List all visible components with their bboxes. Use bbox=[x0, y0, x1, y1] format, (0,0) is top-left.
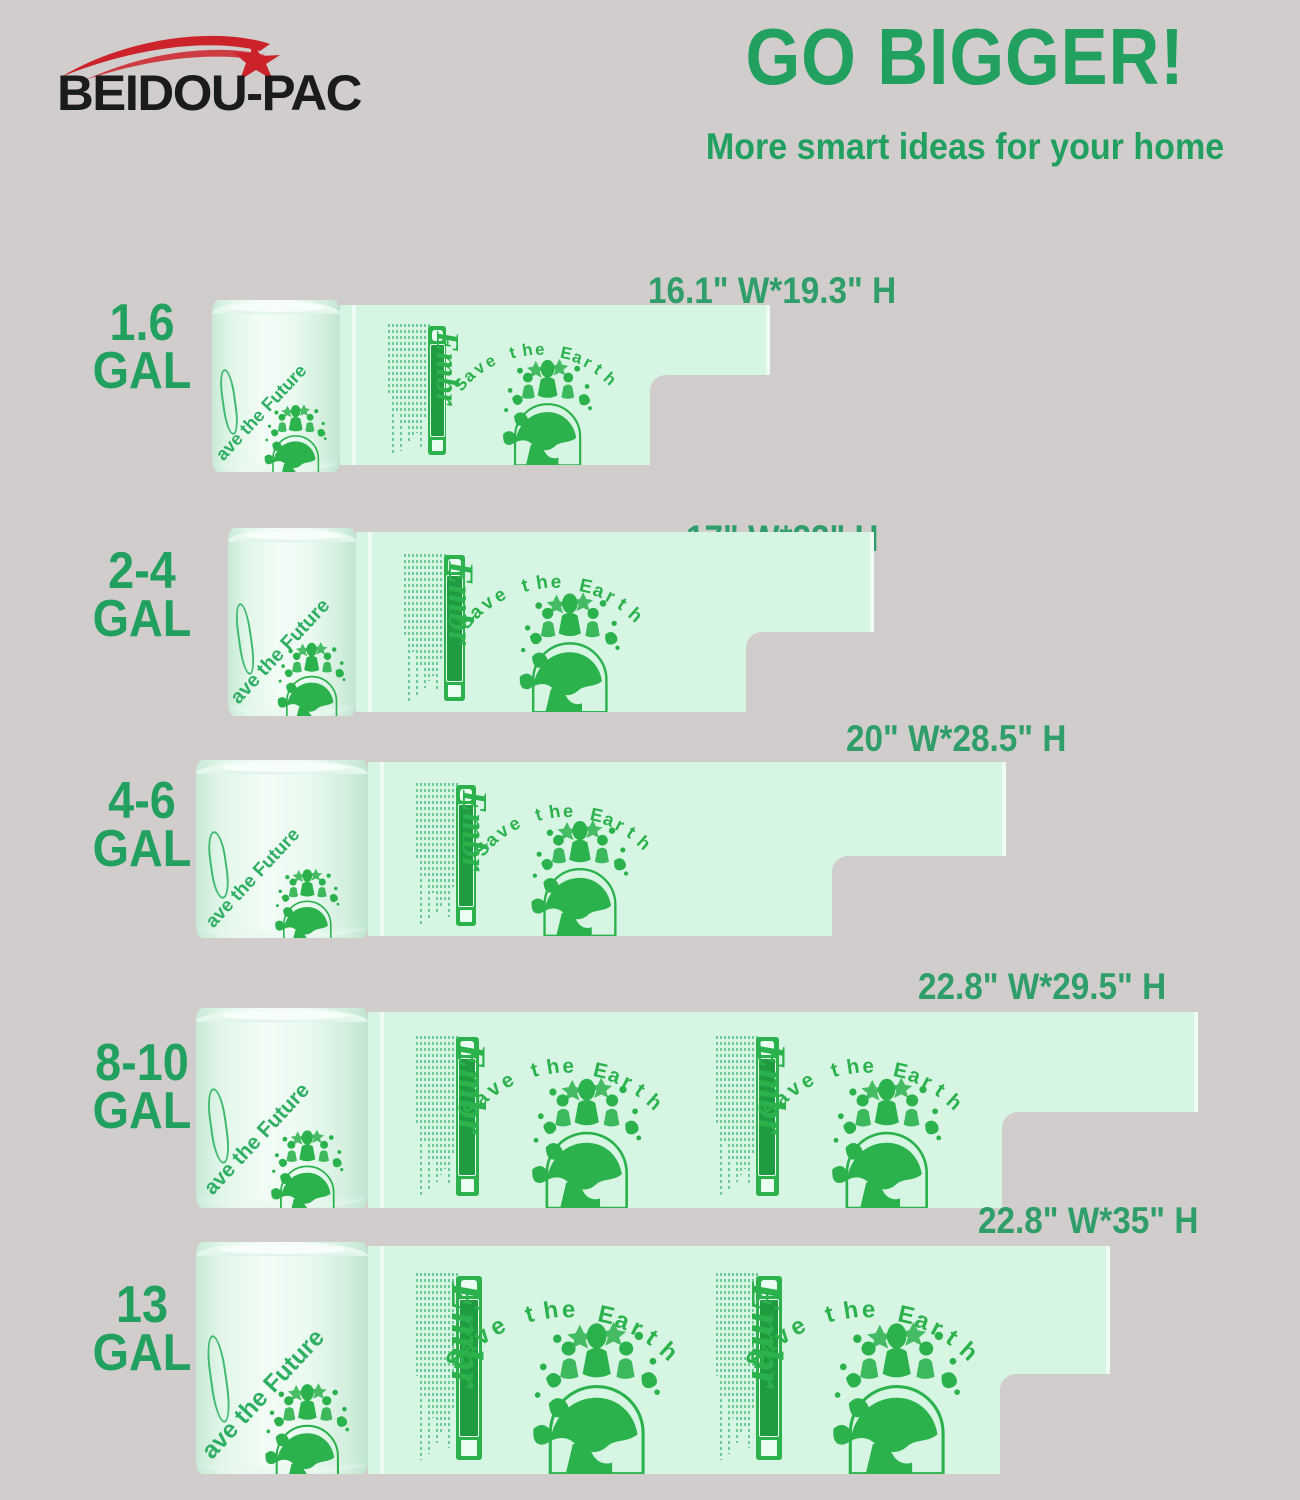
fineprint-line bbox=[720, 1273, 722, 1459]
fineprint-line bbox=[428, 783, 430, 921]
fineprint-line bbox=[728, 1036, 730, 1191]
size-gallons-value: 8-10 bbox=[70, 1040, 214, 1088]
roll-globe-illustration bbox=[254, 860, 361, 938]
bag-fineprint-block bbox=[388, 324, 430, 455]
dimension-label-4: 22.8" W*29.5" H bbox=[918, 966, 1166, 1008]
earth-people-illustration bbox=[526, 1305, 667, 1474]
fineprint-line bbox=[736, 1036, 738, 1182]
bag-left-seam-2 bbox=[368, 532, 372, 712]
earth-people-illustration bbox=[256, 396, 335, 472]
bag-step-notch-3 bbox=[832, 856, 1012, 940]
badge-home-label bbox=[761, 1179, 775, 1193]
bag-roll-2: ave the Future bbox=[228, 528, 356, 716]
fineprint-line bbox=[440, 1036, 442, 1175]
badge-home-label bbox=[432, 440, 443, 451]
fineprint-line bbox=[440, 783, 442, 906]
badge-home-label bbox=[461, 1440, 477, 1456]
bag-roll-1: ave the Future bbox=[212, 300, 340, 472]
roll-top-highlight bbox=[246, 531, 341, 540]
fineprint-line bbox=[416, 1273, 418, 1376]
brand-logo: BEIDOU-PAC bbox=[55, 30, 435, 125]
size-gallons-value: 4-6 bbox=[70, 778, 214, 826]
fineprint-line bbox=[420, 783, 422, 925]
fineprint-line bbox=[716, 1273, 718, 1376]
roll-top-highlight bbox=[220, 763, 347, 772]
earth-people-illustration bbox=[272, 633, 351, 716]
fineprint-line bbox=[732, 1273, 734, 1417]
fineprint-line bbox=[428, 554, 430, 682]
fineprint-line bbox=[416, 324, 418, 433]
size-label-5: 13GAL bbox=[70, 1282, 214, 1378]
size-label-1: 1.6GAL bbox=[70, 300, 214, 396]
dimension-label-5: 22.8" W*35" H bbox=[978, 1200, 1198, 1242]
bag-edge-highlight-4 bbox=[1194, 1012, 1198, 1112]
bag-edge-highlight-3 bbox=[1002, 762, 1006, 856]
bag-edge-highlight-5 bbox=[1106, 1246, 1110, 1374]
bag-step-notch-4 bbox=[1002, 1112, 1204, 1212]
fineprint-line bbox=[416, 554, 418, 697]
roll-globe-illustration bbox=[272, 633, 351, 716]
earth-people-illustration bbox=[826, 1305, 967, 1474]
bag-step-notch-5 bbox=[1000, 1374, 1116, 1478]
badge-home-label bbox=[461, 1179, 475, 1193]
fineprint-line bbox=[416, 783, 418, 861]
bag-step-notch-2 bbox=[746, 632, 880, 716]
fineprint-line bbox=[436, 1036, 438, 1182]
fineprint-line bbox=[392, 324, 394, 455]
fineprint-line bbox=[408, 554, 410, 701]
fineprint-line bbox=[424, 1036, 426, 1143]
bag-roll-5: ave the Future bbox=[196, 1242, 368, 1474]
fineprint-line bbox=[436, 783, 438, 913]
bag-fineprint-block bbox=[416, 783, 458, 926]
fineprint-line bbox=[448, 783, 450, 917]
embr-brand-script: Embr bbox=[429, 331, 466, 406]
bag-left-seam-3 bbox=[380, 762, 384, 936]
bag-roll-4: ave the Future bbox=[196, 1008, 368, 1208]
size-gallons-value: 2-4 bbox=[70, 548, 214, 596]
badge-home-label bbox=[448, 685, 460, 697]
bag-left-seam-5 bbox=[380, 1246, 384, 1474]
earth-people-illustration bbox=[254, 1120, 361, 1208]
fineprint-line bbox=[396, 324, 398, 411]
size-gallons-value: 1.6 bbox=[70, 300, 214, 348]
fineprint-line bbox=[416, 1036, 418, 1124]
fineprint-line bbox=[428, 1273, 430, 1454]
roll-top-highlight bbox=[220, 1245, 347, 1254]
fineprint-line bbox=[740, 1036, 742, 1175]
roll-top-highlight bbox=[220, 1011, 347, 1020]
page-headline: GO BIGGER! bbox=[679, 18, 1251, 96]
badge-home-label bbox=[460, 910, 472, 922]
fineprint-line bbox=[420, 554, 422, 668]
fineprint-line bbox=[420, 1036, 422, 1196]
fineprint-line bbox=[744, 1036, 746, 1169]
roll-top-highlight bbox=[230, 303, 325, 312]
globe-illustration-wrap bbox=[526, 1305, 667, 1479]
fineprint-line bbox=[428, 1036, 430, 1191]
size-label-2: 2-4GAL bbox=[70, 548, 214, 644]
fineprint-line bbox=[412, 324, 414, 437]
size-gallons-unit: GAL bbox=[70, 1088, 214, 1136]
fineprint-line bbox=[424, 554, 426, 688]
bag-step-notch-1 bbox=[650, 375, 776, 469]
fineprint-line bbox=[736, 1273, 738, 1443]
fineprint-line bbox=[432, 1036, 434, 1160]
bag-left-seam-4 bbox=[380, 1012, 384, 1208]
page-subheadline: More smart ideas for your home bbox=[666, 128, 1264, 165]
size-label-4: 8-10GAL bbox=[70, 1040, 214, 1136]
fineprint-line bbox=[404, 324, 406, 425]
fineprint-line bbox=[420, 324, 422, 447]
fineprint-line bbox=[444, 1036, 446, 1169]
fineprint-line bbox=[412, 554, 414, 652]
fineprint-line bbox=[432, 1273, 434, 1417]
globe-illustration-wrap bbox=[826, 1305, 967, 1479]
fineprint-line bbox=[728, 1273, 730, 1454]
fineprint-line bbox=[432, 783, 434, 893]
dimension-label-3: 20" W*28.5" H bbox=[846, 718, 1066, 760]
badge-home-label bbox=[761, 1440, 777, 1456]
fineprint-line bbox=[444, 783, 446, 901]
roll-pod-mark bbox=[204, 1334, 233, 1423]
fineprint-line bbox=[716, 1036, 718, 1124]
fineprint-line bbox=[388, 324, 390, 396]
size-gallons-unit: GAL bbox=[70, 1330, 214, 1378]
size-gallons-value: 13 bbox=[70, 1282, 214, 1330]
fineprint-line bbox=[400, 324, 402, 451]
fineprint-line bbox=[436, 554, 438, 692]
earth-people-illustration bbox=[254, 860, 361, 938]
bag-edge-highlight-1 bbox=[766, 305, 770, 375]
fineprint-line bbox=[732, 1036, 734, 1160]
bag-roll-3: ave the Future bbox=[196, 760, 368, 938]
fineprint-line bbox=[408, 324, 410, 443]
fineprint-line bbox=[424, 324, 426, 420]
fineprint-line bbox=[420, 1273, 422, 1459]
fineprint-line bbox=[724, 1273, 726, 1397]
fineprint-line bbox=[424, 1273, 426, 1397]
page-header: BEIDOU-PAC GO BIGGER! More smart ideas f… bbox=[0, 0, 1300, 200]
roll-globe-illustration bbox=[254, 1372, 361, 1474]
size-gallons-unit: GAL bbox=[70, 826, 214, 874]
fineprint-line bbox=[404, 554, 406, 635]
size-label-3: 4-6GAL bbox=[70, 778, 214, 874]
fineprint-line bbox=[432, 554, 434, 676]
size-gallons-unit: GAL bbox=[70, 348, 214, 396]
fineprint-line bbox=[424, 783, 426, 878]
roll-globe-illustration bbox=[256, 396, 335, 472]
logo-wordmark: BEIDOU-PAC bbox=[57, 64, 361, 122]
fineprint-line bbox=[724, 1036, 726, 1143]
size-gallons-unit: GAL bbox=[70, 596, 214, 644]
bag-edge-highlight-2 bbox=[870, 532, 874, 632]
fineprint-line bbox=[720, 1036, 722, 1196]
bag-left-seam-1 bbox=[352, 305, 356, 465]
earth-people-illustration bbox=[254, 1372, 361, 1474]
fineprint-line bbox=[436, 1273, 438, 1443]
roll-globe-illustration bbox=[254, 1120, 361, 1208]
